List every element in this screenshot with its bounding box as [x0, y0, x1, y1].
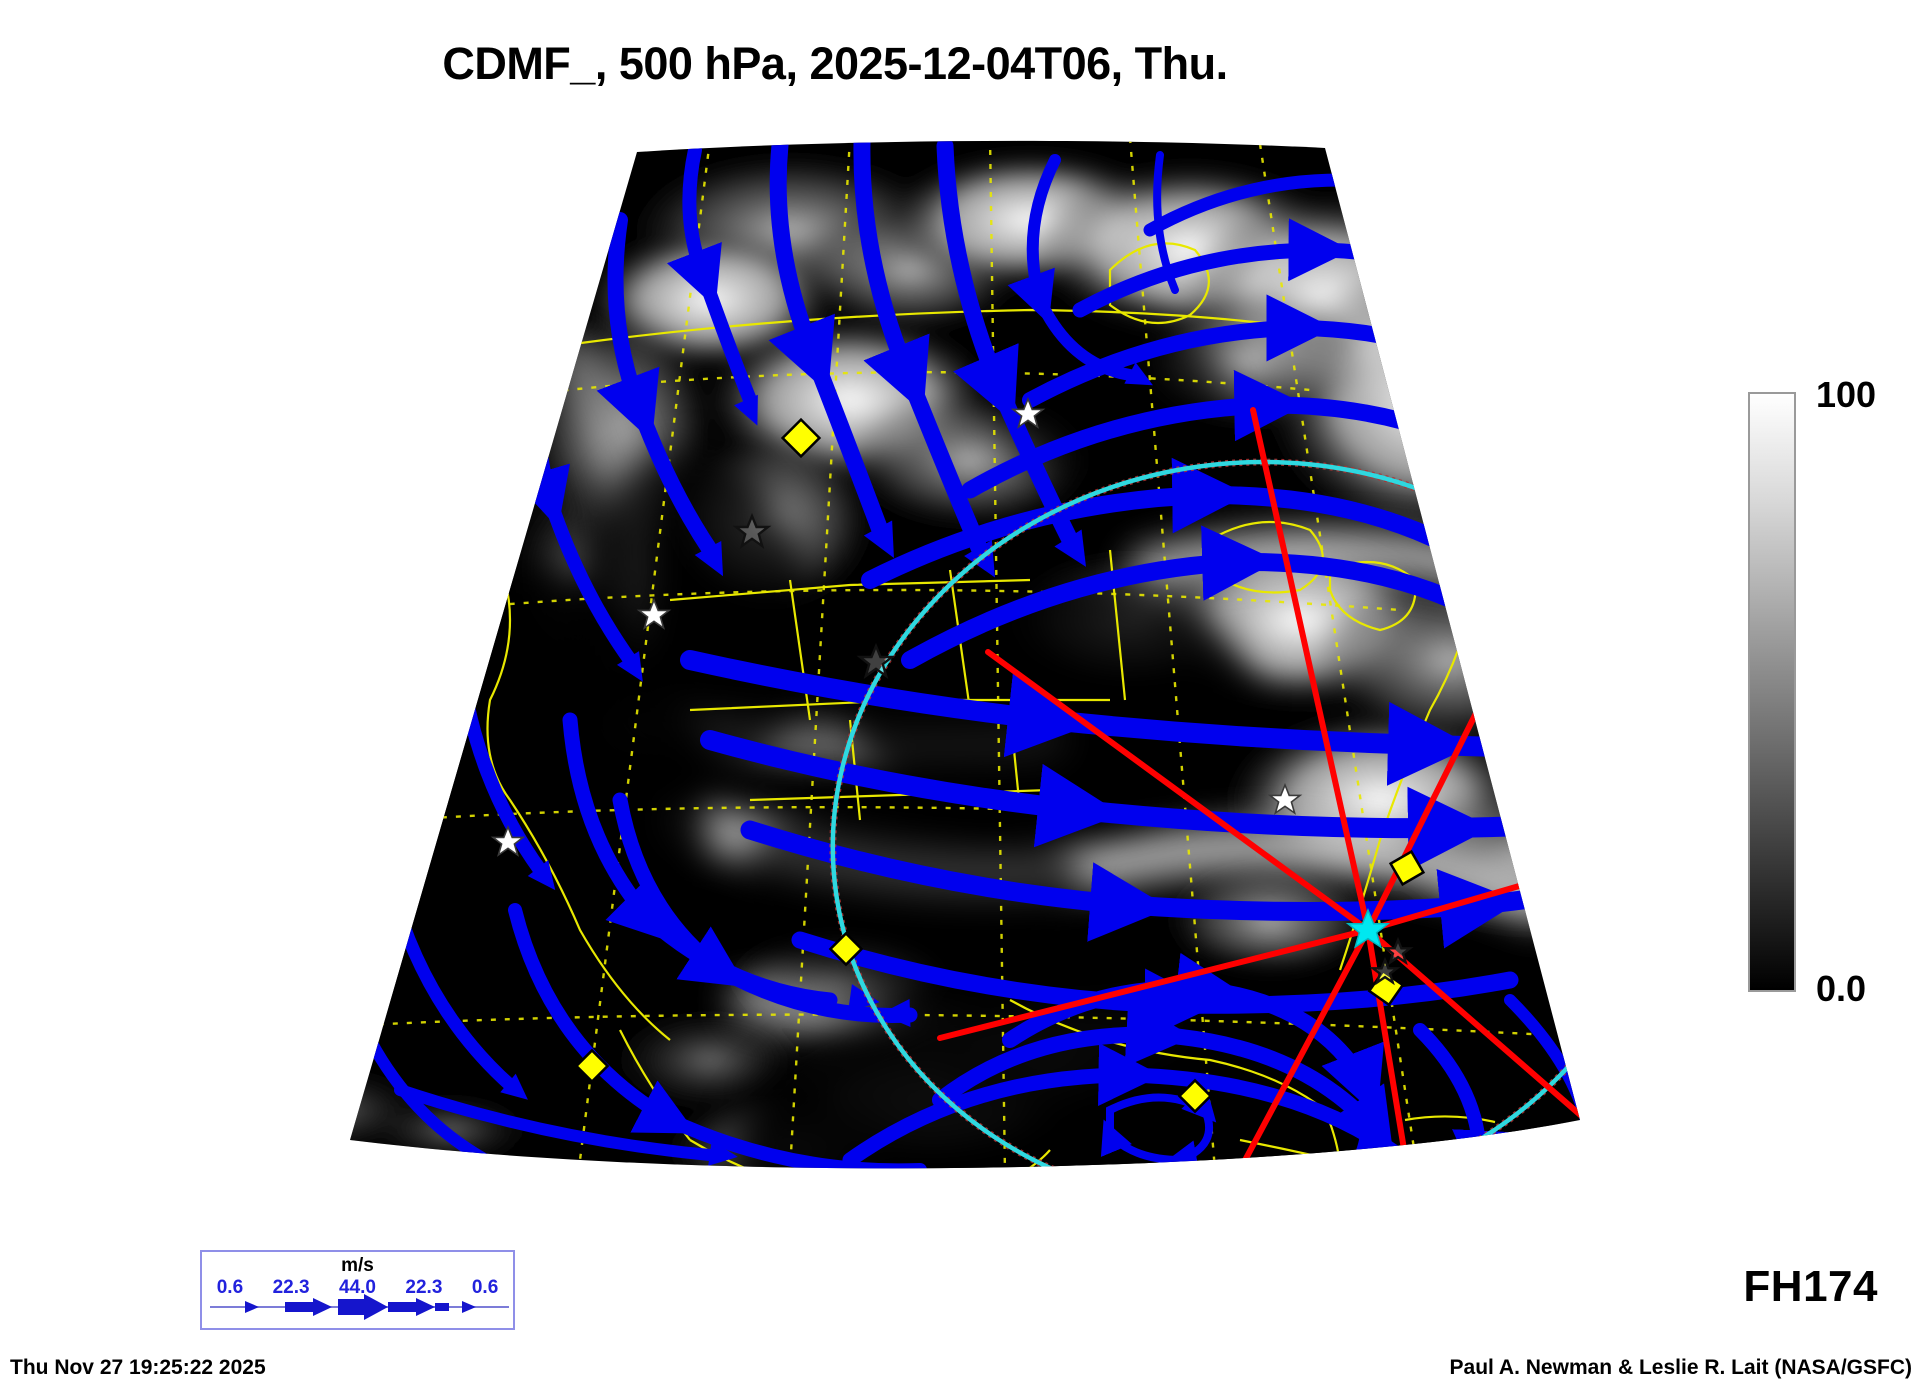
- colorbar-min-label: 0.0: [1816, 968, 1866, 1010]
- footer-credit: Paul A. Newman & Leslie R. Lait (NASA/GS…: [1450, 1356, 1912, 1380]
- wind-arrow-0: [245, 1301, 259, 1313]
- wind-arrow-2-head: [364, 1294, 388, 1320]
- map-svg[interactable]: [150, 100, 1670, 1230]
- colorbar-gradient: [1748, 392, 1796, 992]
- map-data-layer: [150, 100, 1670, 1230]
- station-star[interactable]: [1501, 718, 1531, 746]
- wind-arrow-3-head: [416, 1298, 435, 1316]
- wind-arrow-2-shaft: [338, 1299, 364, 1315]
- wind-legend-arrow-scale: [210, 1294, 509, 1320]
- wind-arrow-1-shaft: [285, 1302, 313, 1312]
- wind-arrow-3-shaft: [388, 1302, 416, 1312]
- station-star-hollow[interactable]: [1491, 406, 1523, 436]
- wind-speed-legend: m/s 0.6 22.3 44.0 22.3 0.6: [200, 1250, 515, 1330]
- wind-arrow-3-tail: [435, 1303, 449, 1311]
- wind-legend-unit-label: m/s: [202, 1255, 513, 1277]
- footer-timestamp: Thu Nov 27 19:25:22 2025: [10, 1356, 266, 1380]
- wind-arrow-4: [462, 1301, 476, 1313]
- colorbar: 100 0.0: [1748, 378, 1926, 1018]
- colorbar-max-label: 100: [1816, 374, 1876, 416]
- wind-arrow-1-head: [313, 1298, 332, 1316]
- forecast-hour-label: FH174: [1743, 1262, 1878, 1312]
- page-title: CDMF_, 500 hPa, 2025-12-04T06, Thu.: [0, 38, 1670, 90]
- map-panel[interactable]: [150, 100, 1670, 1230]
